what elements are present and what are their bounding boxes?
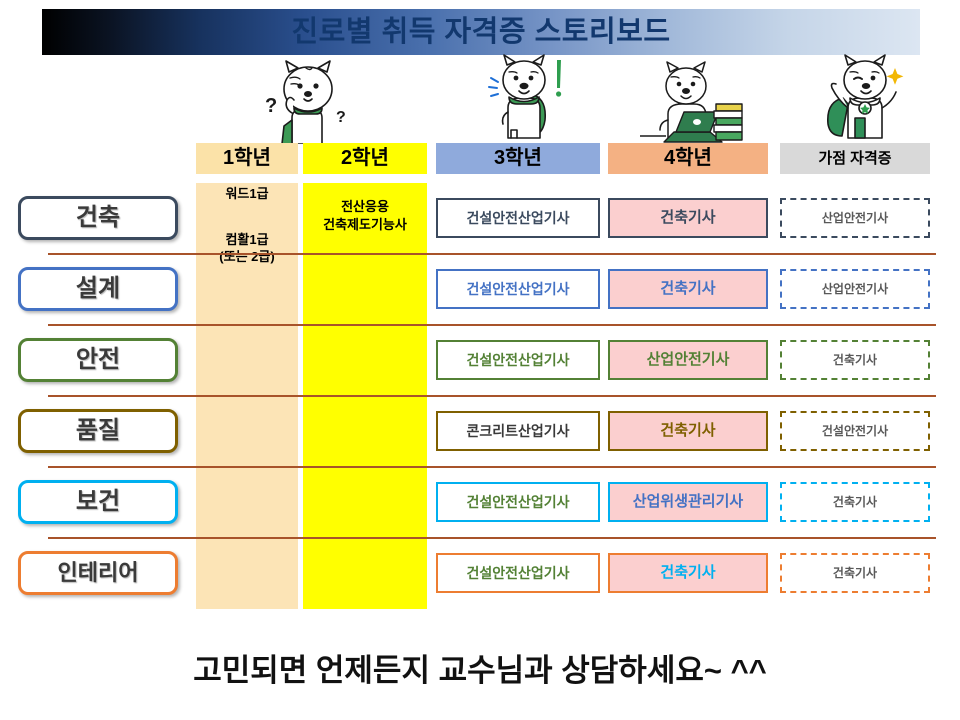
tiger-cape-excited-icon (465, 54, 575, 142)
row-separator (48, 253, 936, 255)
year2-cert-line1: 전산응용 (298, 198, 432, 216)
year2-cert-line2: 건축제도기능사 (298, 216, 432, 234)
svg-text:?: ? (336, 109, 346, 126)
tiger-laptop-books-icon (640, 58, 750, 146)
cell-year4-row0[interactable]: 건축기사 (608, 198, 768, 238)
cell-bonus-row3[interactable]: 건설안전기사 (780, 411, 930, 451)
cell-bonus-row0[interactable]: 산업안전기사 (780, 198, 930, 238)
row-label-0[interactable]: 건축 (18, 196, 178, 240)
cell-year3-row1[interactable]: 건설안전산업기사 (436, 269, 600, 309)
column-header-year2: 2학년 (303, 143, 427, 174)
row-separator (48, 537, 936, 539)
cell-year4-row5[interactable]: 건축기사 (608, 553, 768, 593)
row-separator (48, 324, 936, 326)
year2-merged-text: 전산응용 건축제도기능사 (298, 198, 432, 233)
cell-bonus-row1[interactable]: 산업안전기사 (780, 269, 930, 309)
cell-bonus-row5[interactable]: 건축기사 (780, 553, 930, 593)
cell-year4-row2[interactable]: 산업안전기사 (608, 340, 768, 380)
footer-message: 고민되면 언제든지 교수님과 상담하세요~ ^^ (0, 645, 960, 690)
tiger-thinking-icon: ? ? (248, 56, 358, 144)
column-header-year4: 4학년 (608, 143, 768, 174)
row-label-1[interactable]: 설계 (18, 267, 178, 311)
page-title: 진로별 취득 자격증 스토리보드 (42, 9, 920, 55)
row-separator (48, 395, 936, 397)
row-label-2[interactable]: 안전 (18, 338, 178, 382)
year1-cert-2: 컴활1급 (196, 231, 298, 249)
svg-text:?: ? (265, 95, 277, 117)
cell-bonus-row4[interactable]: 건축기사 (780, 482, 930, 522)
row-label-4[interactable]: 보건 (18, 480, 178, 524)
column-header-bonus: 가점 자격증 (780, 143, 930, 174)
cell-year3-row0[interactable]: 건설안전산업기사 (436, 198, 600, 238)
cell-year3-row5[interactable]: 건설안전산업기사 (436, 553, 600, 593)
cell-year3-row4[interactable]: 건설안전산업기사 (436, 482, 600, 522)
row-label-5[interactable]: 인테리어 (18, 551, 178, 595)
year1-cert-1: 워드1급 (196, 185, 298, 203)
cell-year3-row2[interactable]: 건설안전산업기사 (436, 340, 600, 380)
year1-cert-2-note: (또는 2급) (196, 248, 298, 266)
column-header-year1: 1학년 (196, 143, 298, 174)
row-label-3[interactable]: 품질 (18, 409, 178, 453)
tiger-medal-winking-icon (808, 54, 918, 142)
column-header-year3: 3학년 (436, 143, 600, 174)
cell-year4-row4[interactable]: 산업위생관리기사 (608, 482, 768, 522)
cell-year3-row3[interactable]: 콘크리트산업기사 (436, 411, 600, 451)
cell-year4-row1[interactable]: 건축기사 (608, 269, 768, 309)
cell-year4-row3[interactable]: 건축기사 (608, 411, 768, 451)
cell-bonus-row2[interactable]: 건축기사 (780, 340, 930, 380)
row-separator (48, 466, 936, 468)
